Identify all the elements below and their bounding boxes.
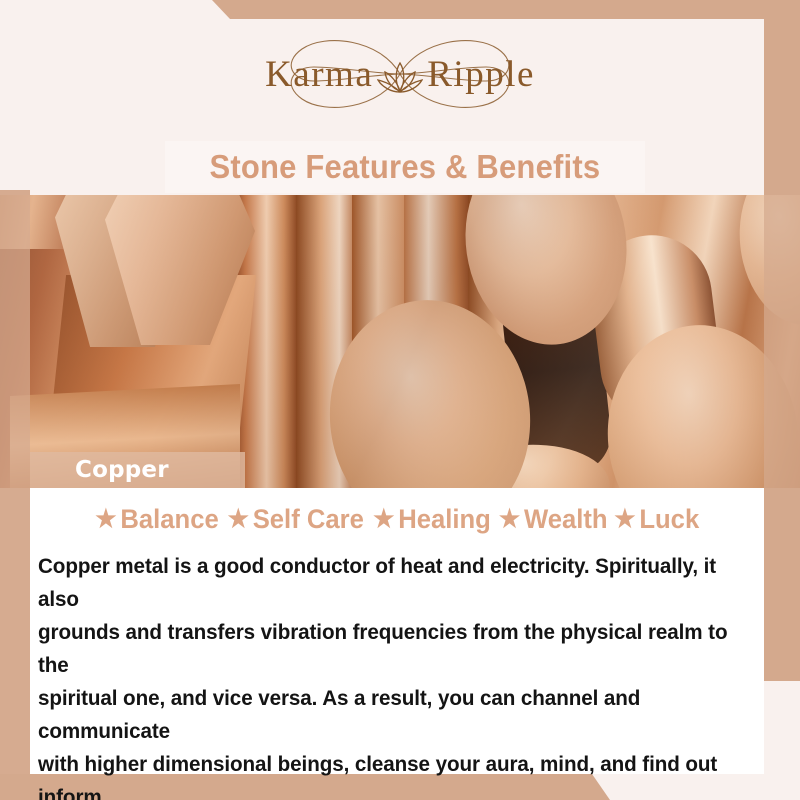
page-title: Stone Features & Benefits: [210, 148, 601, 186]
star-icon: ★: [499, 507, 520, 532]
hero-caption-bar: Copper: [30, 452, 245, 488]
description-line: spiritual one, and vice versa. As a resu…: [38, 682, 735, 748]
benefit-label: Luck: [640, 504, 700, 535]
hero-sheen-overlay: [0, 195, 800, 488]
description-text: Copper metal is a good conductor of heat…: [38, 550, 735, 800]
benefit-item-healing: ★ Healing: [373, 504, 491, 535]
benefit-label: Wealth: [524, 504, 608, 535]
benefit-item-wealth: ★ Wealth: [499, 504, 608, 535]
star-icon: ★: [228, 507, 249, 532]
brand-name-first: Karma: [265, 53, 373, 96]
description-line: grounds and transfers vibration frequenc…: [38, 616, 735, 682]
star-icon: ★: [614, 507, 635, 532]
infographic-page: Karma Ripple Stone Featur: [0, 0, 800, 800]
benefit-label: Self Care: [253, 504, 364, 535]
benefit-item-balance: ★ Balance: [96, 504, 219, 535]
title-banner: Stone Features & Benefits: [165, 141, 645, 193]
star-icon: ★: [373, 507, 394, 532]
brand-name: Karma Ripple: [265, 53, 535, 96]
benefits-list: ★ Balance ★ Self Care ★ Healing ★ Wealth…: [30, 504, 764, 535]
content-panel: ★ Balance ★ Self Care ★ Healing ★ Wealth…: [30, 488, 764, 774]
brand-name-second: Ripple: [427, 53, 535, 96]
benefit-label: Balance: [121, 504, 219, 535]
description-line: Copper metal is a good conductor of heat…: [38, 550, 735, 616]
benefit-label: Healing: [398, 504, 491, 535]
top-accent-band: [0, 0, 800, 19]
brand-header: Karma Ripple: [0, 19, 800, 129]
description-line: with higher dimensional beings, cleanse …: [38, 748, 735, 800]
hero-right-veil: [764, 195, 800, 488]
benefit-item-luck: ★ Luck: [614, 504, 699, 535]
stone-name-label: Copper: [75, 457, 169, 483]
lotus-icon: [377, 57, 423, 97]
brand-logo: Karma Ripple: [230, 31, 570, 117]
benefit-item-self-care: ★ Self Care: [228, 504, 364, 535]
hero-left-veil: [0, 195, 30, 488]
hero-image: [0, 195, 800, 488]
star-icon: ★: [96, 507, 117, 532]
